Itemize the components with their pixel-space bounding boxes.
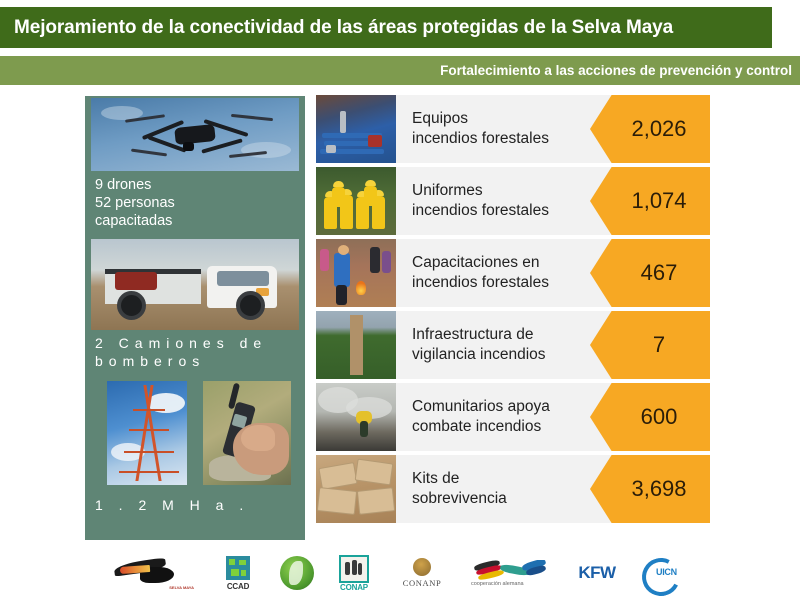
metric-label: Kits de sobrevivencia [396, 469, 507, 509]
metric-value: 600 [609, 405, 691, 429]
watchtower-photo [316, 311, 396, 379]
kfw-logo: KFW [572, 563, 622, 583]
fire-truck-photo [91, 239, 299, 330]
conanp-mark-icon [413, 558, 431, 576]
firefighters-in-uniform-photo [316, 167, 396, 235]
fire-combat-photo [316, 383, 396, 451]
caption-fire-trucks: 2 Camiones de bomberos [95, 334, 267, 370]
uicn-logo: UICN [642, 558, 690, 588]
metric-label: Equipos incendios forestales [396, 109, 549, 149]
training-session-photo [316, 239, 396, 307]
metric-value-chevron: 1,074 [590, 167, 710, 235]
metric-value: 1,074 [609, 189, 691, 213]
drone-photo [91, 98, 299, 171]
metrics-list: Equipos incendios forestales 2,026 Unifo… [316, 95, 710, 527]
list-item[interactable]: Comunitarios apoya combate incendios 600 [316, 383, 710, 451]
conap-mark-icon [339, 555, 369, 583]
metric-value-chevron: 7 [590, 311, 710, 379]
metric-value: 7 [609, 333, 691, 357]
conap-logo: CONAP [334, 555, 374, 592]
metric-value: 3,698 [609, 477, 691, 501]
metric-label: Capacitaciones en incendios forestales [396, 253, 549, 293]
survival-kits-photo [316, 455, 396, 523]
uicn-logo-text: UICN [656, 567, 677, 577]
list-item[interactable]: Kits de sobrevivencia 3,698 [316, 455, 710, 523]
page-subtitle: Fortalecimiento a las acciones de preven… [440, 63, 800, 78]
german-flag-ribbon-icon [474, 560, 548, 580]
metric-value: 467 [609, 261, 691, 285]
conanp-logo-text: CONANP [403, 578, 442, 588]
list-item[interactable]: Equipos incendios forestales 2,026 [316, 95, 710, 163]
left-photo-panel: 9 drones 52 personas capacitadas 2 Camio… [85, 96, 305, 540]
selva-maya-logo-text: SELVA MAYA [169, 586, 194, 591]
firefighting-equipment-photo [316, 95, 396, 163]
metric-label: Uniformes incendios forestales [396, 181, 549, 221]
conap-logo-text: CONAP [340, 583, 368, 592]
metric-value: 2,026 [609, 117, 691, 141]
selva-maya-logo: SELVA MAYA [110, 555, 196, 591]
metric-value-chevron: 2,026 [590, 95, 710, 163]
metric-value-chevron: 467 [590, 239, 710, 307]
footer-logo-bar: SELVA MAYA CCAD CONAP CONANP [0, 546, 800, 600]
conanp-logo: CONANP [394, 558, 450, 589]
green-globe-logo [280, 556, 314, 590]
subtitle-bar: Fortalecimiento a las acciones de preven… [0, 56, 800, 85]
metric-label: Infraestructura de vigilancia incendios [396, 325, 546, 365]
caption-hectares: 1 . 2 M H a . [95, 496, 249, 514]
metric-label: Comunitarios apoya combate incendios [396, 397, 550, 437]
cooperacion-alemana-logo: cooperación alemana [470, 560, 552, 587]
metric-value-chevron: 600 [590, 383, 710, 451]
ccad-mark-icon [226, 556, 250, 580]
slide: Mejoramiento de la conectividad de las á… [0, 0, 800, 600]
radio-tower-photo [107, 381, 187, 485]
list-item[interactable]: Capacitaciones en incendios forestales 4… [316, 239, 710, 307]
caption-drones: 9 drones 52 personas capacitadas [95, 176, 175, 230]
list-item[interactable]: Infraestructura de vigilancia incendios … [316, 311, 710, 379]
ccad-logo-text: CCAD [227, 582, 249, 591]
cooperacion-alemana-logo-text: cooperación alemana [469, 581, 553, 587]
title-bar: Mejoramiento de la conectividad de las á… [0, 7, 772, 48]
list-item[interactable]: Uniformes incendios forestales 1,074 [316, 167, 710, 235]
uicn-circle-icon [637, 553, 685, 601]
metric-value-chevron: 3,698 [590, 455, 710, 523]
satellite-phone-photo [203, 381, 291, 485]
page-title: Mejoramiento de la conectividad de las á… [0, 17, 673, 39]
ccad-logo: CCAD [216, 556, 260, 591]
globe-icon [280, 556, 314, 590]
